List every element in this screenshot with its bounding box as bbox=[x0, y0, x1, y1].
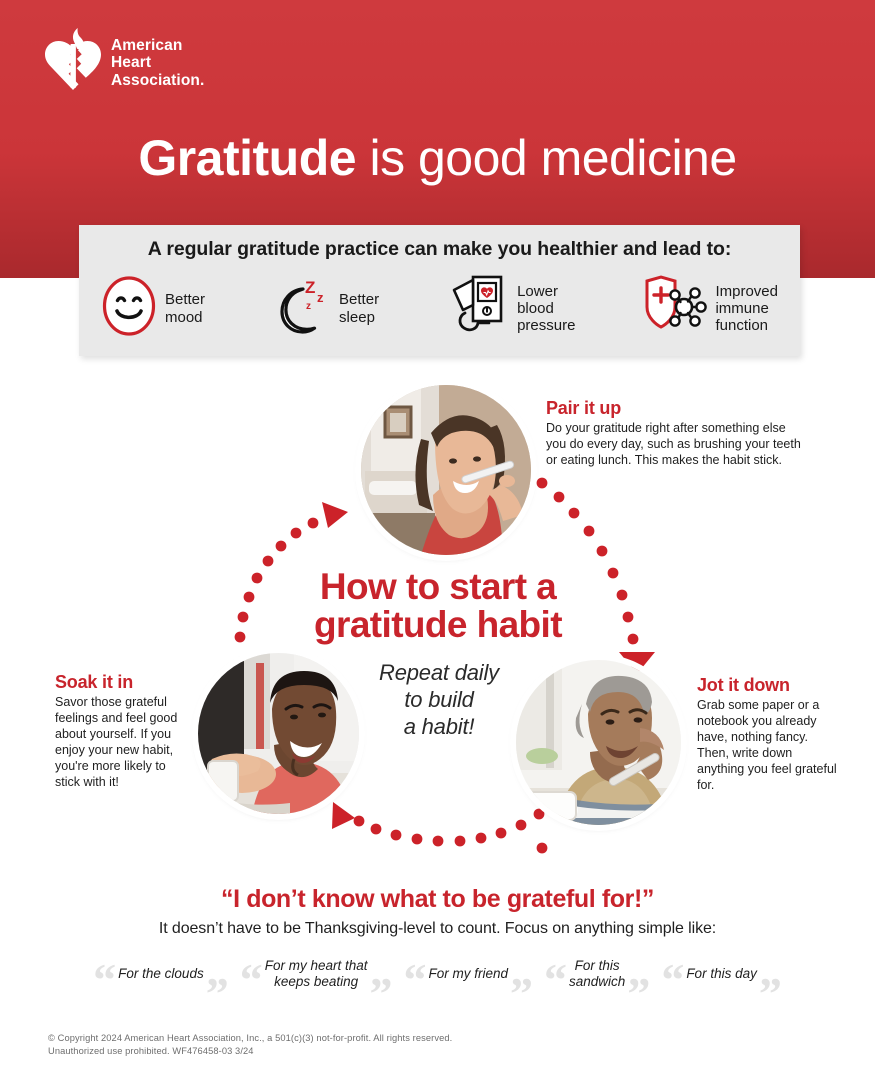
quote-card-text: For my heart that keeps beating bbox=[265, 958, 368, 991]
repeat-line-3: a habit! bbox=[404, 714, 475, 739]
callout-title-jot-it-down: Jot it down bbox=[697, 675, 837, 696]
photo-man-with-coffee bbox=[198, 653, 359, 814]
logo-line-3: Association. bbox=[111, 72, 204, 89]
quote-card: “ For my heart that keeps beating ” bbox=[240, 952, 393, 996]
quote-card: “ For this day ” bbox=[661, 952, 782, 996]
copyright-footer: © Copyright 2024 American Heart Associat… bbox=[48, 1032, 452, 1059]
copyright-line-1: © Copyright 2024 American Heart Associat… bbox=[48, 1032, 452, 1045]
callout-title-pair-it-up: Pair it up bbox=[546, 398, 808, 419]
quote-card-text: For this day bbox=[686, 966, 757, 982]
quote-card: “ For my friend ” bbox=[404, 952, 534, 996]
callout-body-soak-it-in: Savor those grateful feelings and feel g… bbox=[55, 694, 190, 790]
repeat-line-1: Repeat daily bbox=[379, 660, 499, 685]
aha-logo-text: American Heart Association. bbox=[111, 37, 204, 89]
benefit-label-better-sleep: Better sleep bbox=[339, 291, 379, 326]
callout-body-pair-it-up: Do your gratitude right after something … bbox=[546, 420, 808, 468]
callout-soak-it-in: Soak it in Savor those grateful feelings… bbox=[55, 672, 190, 790]
arc-right-dots bbox=[537, 843, 548, 854]
repeat-daily-note: Repeat daily to build a habit! bbox=[345, 660, 533, 740]
benefit-item-lower-blood-pressure: Lower blood pressure bbox=[443, 273, 575, 344]
photo-woman-brushing-teeth bbox=[361, 385, 531, 555]
benefits-heading: A regular gratitude practice can make yo… bbox=[79, 225, 800, 261]
quote-card-list: “ For the clouds ” “ For my heart that k… bbox=[0, 952, 875, 996]
habit-cycle-section: How to start a gratitude habit Repeat da… bbox=[0, 365, 875, 875]
quote-card-text: For my friend bbox=[429, 966, 509, 982]
benefit-item-better-mood: Better mood bbox=[101, 273, 205, 344]
logo-line-2: Heart bbox=[111, 54, 151, 71]
aha-heart-torch-icon bbox=[45, 28, 101, 98]
gratitude-examples-section: “I don’t know what to be grateful for!” … bbox=[0, 885, 875, 996]
callout-title-soak-it-in: Soak it in bbox=[55, 672, 190, 693]
page-title: Gratitude is good medicine bbox=[0, 133, 875, 183]
svg-text:Z: Z bbox=[305, 278, 315, 297]
benefit-label-better-mood: Better mood bbox=[165, 291, 205, 326]
benefits-panel: A regular gratitude practice can make yo… bbox=[79, 225, 800, 356]
quote-card: “ For this sandwich ” bbox=[544, 952, 650, 996]
arrowhead-to-pair-it-up bbox=[322, 502, 348, 528]
callout-body-jot-it-down: Grab some paper or a notebook you alread… bbox=[697, 697, 837, 793]
svg-text:z: z bbox=[317, 290, 324, 305]
smiley-face-icon bbox=[101, 275, 157, 342]
copyright-line-2: Unauthorized use prohibited. WF476458-03… bbox=[48, 1045, 452, 1058]
page-title-light: is good medicine bbox=[356, 130, 737, 186]
quote-card-text: For the clouds bbox=[118, 966, 204, 982]
cycle-title: How to start a gratitude habit bbox=[268, 568, 608, 644]
benefit-label-lower-blood-pressure: Lower blood pressure bbox=[517, 283, 575, 335]
callout-pair-it-up: Pair it up Do your gratitude right after… bbox=[546, 398, 808, 468]
blood-pressure-cuff-icon bbox=[443, 273, 509, 344]
benefit-item-better-sleep: Z z z Better sleep bbox=[269, 273, 379, 344]
cycle-title-line-1: How to start a bbox=[320, 566, 556, 607]
page-title-bold: Gratitude bbox=[138, 130, 356, 186]
quote-card: “ For the clouds ” bbox=[93, 952, 229, 996]
quotes-heading: “I don’t know what to be grateful for!” bbox=[0, 885, 875, 914]
photo-woman-writing bbox=[516, 660, 681, 825]
moon-zzz-icon: Z z z bbox=[269, 275, 331, 342]
svg-text:z: z bbox=[306, 301, 311, 312]
callout-jot-it-down: Jot it down Grab some paper or a noteboo… bbox=[697, 675, 837, 793]
benefit-label-improved-immune-function: Improved immune function bbox=[715, 283, 778, 335]
benefits-list: Better mood Z z z Better sleep bbox=[79, 261, 800, 344]
cycle-title-line-2: gratitude habit bbox=[314, 604, 562, 645]
logo-line-1: American bbox=[111, 37, 182, 54]
quotes-subheading: It doesn’t have to be Thanksgiving-level… bbox=[0, 920, 875, 938]
shield-immune-cell-icon bbox=[639, 273, 707, 344]
benefit-item-improved-immune-function: Improved immune function bbox=[639, 273, 778, 344]
quote-card-text: For this sandwich bbox=[569, 958, 625, 991]
repeat-line-2: to build bbox=[404, 687, 473, 712]
aha-logo: American Heart Association. bbox=[45, 28, 204, 98]
